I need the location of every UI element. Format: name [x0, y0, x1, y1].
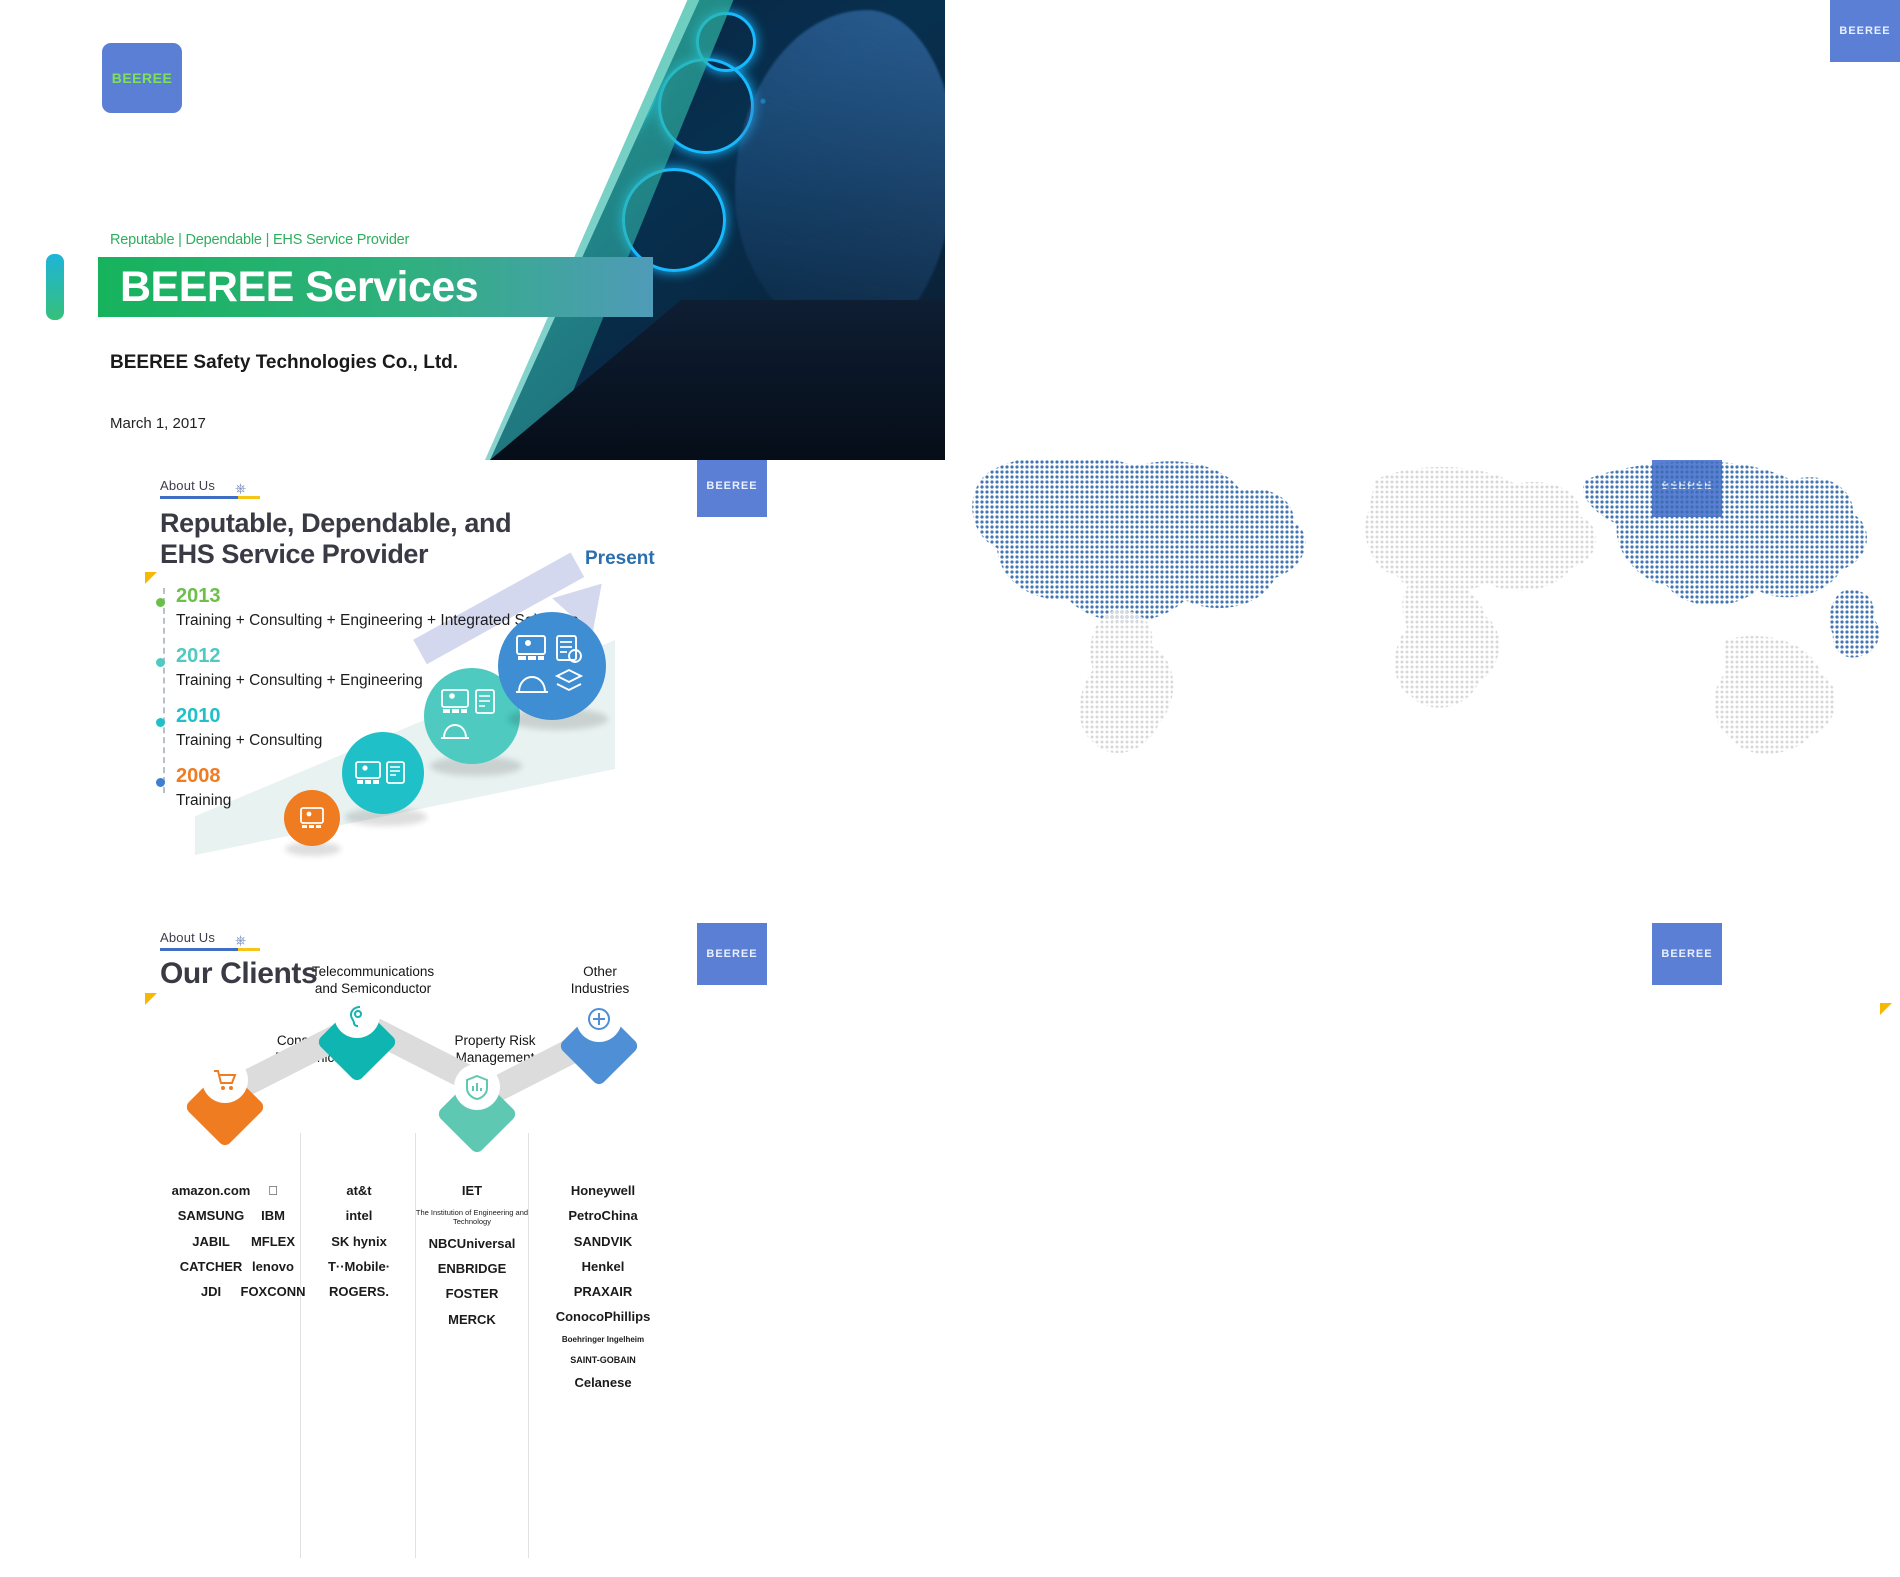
timeline-dot	[156, 778, 165, 787]
client-logo: intel	[300, 1209, 418, 1223]
timeline-dashed-line	[163, 588, 165, 793]
logo-text: BEEREE	[112, 70, 173, 86]
phone-ear-icon	[334, 992, 380, 1038]
title-accent-bar	[46, 254, 64, 320]
category-label-telecom: Telecommunications and Semiconductor	[283, 964, 463, 997]
client-logo: PRAXAIR	[528, 1285, 678, 1299]
slide-header: About Us ⎈	[160, 930, 260, 951]
shopping-cart-icon	[202, 1057, 248, 1103]
flag-marker-icon	[1880, 1003, 1892, 1015]
training-icon	[299, 807, 325, 829]
timeline-year: 2012	[176, 645, 221, 668]
client-logo-sub: The Institution of Engineering and Techn…	[413, 1209, 531, 1226]
client-column-4: Honeywell PetroChina SANDVIK Henkel PRAX…	[528, 1173, 678, 1402]
client-logo: Honeywell	[528, 1184, 678, 1198]
client-logo: FOSTER	[413, 1287, 531, 1301]
page-title: BEEREE Services	[120, 263, 478, 312]
timeline-desc: Training	[176, 792, 231, 810]
shield-icon: ⎈	[235, 932, 246, 949]
presentation-deck: BEEREE Reputable | Dependable | EHS Serv…	[0, 0, 1900, 1577]
plus-circle-icon	[576, 996, 622, 1042]
gear-inner-icon	[559, 43, 637, 121]
timeline-dot	[156, 598, 165, 607]
client-logo: Boehringer Ingelheim	[528, 1336, 678, 1345]
timeline-desc: Training + Consulting + Engineering	[176, 672, 423, 690]
corner-badge: BEEREE	[697, 460, 767, 517]
timeline-year: 2010	[176, 705, 221, 728]
milestone-bubble-2010	[342, 732, 424, 814]
client-logo: ENBRIDGE	[413, 1262, 531, 1276]
client-logo: Henkel	[528, 1260, 678, 1274]
client-column-2: at&t intel SK hynix T··Mobile· ROGERS.	[300, 1173, 418, 1310]
flag-marker-icon	[145, 993, 157, 1005]
hand-silhouette	[735, 10, 945, 340]
corner-badge: BEEREE	[1830, 0, 1900, 62]
corner-badge: BEEREE	[697, 923, 767, 985]
slide-title: BEEREE Reputable | Dependable | EHS Serv…	[0, 0, 945, 460]
training-consulting-icon	[354, 760, 412, 786]
corner-badge-text: BEEREE	[1661, 948, 1712, 960]
slide-case-process: BEEREE CASE 🗎 EHS Manual Development: Qu…	[945, 905, 1900, 1577]
timeline-dot	[156, 658, 165, 667]
timeline-dot	[156, 718, 165, 727]
presentation-date: March 1, 2017	[110, 415, 206, 432]
slide-our-clients: BEEREE About Us ⎈ Our Clients Consumer E…	[0, 905, 945, 1577]
corner-badge-text: BEEREE	[706, 480, 757, 492]
shield-icon: ⎈	[235, 480, 246, 497]
client-logo: IET	[413, 1184, 531, 1198]
client-logo: Celanese	[528, 1376, 678, 1390]
slide-outline: BEEREE BEEREE Safety Technologies Co., L…	[945, 0, 1900, 460]
milestone-bubble-2008	[284, 790, 340, 846]
slide-header: About Us ⎈	[160, 478, 260, 499]
training-consulting-engineering-icon	[440, 688, 504, 744]
corner-badge-text: BEEREE	[706, 948, 757, 960]
title-line-2: EHS Service Provider	[160, 539, 511, 570]
world-dot-map	[945, 460, 1900, 770]
client-logo: ConocoPhillips	[528, 1310, 678, 1324]
client-logo: SAINT-GOBAIN	[528, 1356, 678, 1366]
milestone-bubble-2013	[498, 612, 606, 720]
flag-marker-icon	[145, 572, 157, 584]
timeline-year: 2008	[176, 765, 221, 788]
integrated-solutions-icon	[515, 634, 589, 698]
client-logo: NBCUniversal	[413, 1237, 531, 1251]
client-logo: T··Mobile·	[300, 1260, 418, 1274]
company-name: BEEREE Safety Technologies Co., Ltd.	[110, 352, 458, 374]
slide-about-timeline: BEEREE About Us ⎈ Reputable, Dependable,…	[0, 460, 945, 905]
title-line-1: Reputable, Dependable, and	[160, 508, 511, 539]
client-logo: MERCK	[413, 1313, 531, 1327]
category-label-other: Other Industries	[540, 964, 660, 997]
client-logo: PetroChina	[528, 1209, 678, 1223]
slide-service-regions: BEEREE About Us ⎈ Servic	[945, 460, 1900, 905]
title-banner: BEEREE Services	[98, 257, 653, 317]
tagline: Reputable | Dependable | EHS Service Pro…	[110, 232, 409, 248]
logo: BEEREE	[102, 43, 182, 113]
timeline-desc: Training + Consulting	[176, 732, 322, 750]
client-logo: ROGERS.	[300, 1285, 418, 1299]
corner-badge: BEEREE	[1652, 923, 1722, 985]
client-logo: at&t	[300, 1184, 418, 1198]
shield-chart-icon	[454, 1064, 500, 1110]
client-logo: SK hynix	[300, 1235, 418, 1249]
client-logo: SANDVIK	[528, 1235, 678, 1249]
corner-badge-text: BEEREE	[1839, 25, 1890, 37]
present-label: Present	[585, 548, 655, 570]
timeline-year: 2013	[176, 585, 221, 608]
page-title: Reputable, Dependable, and EHS Service P…	[160, 508, 511, 570]
client-column-3: IET The Institution of Engineering and T…	[413, 1173, 531, 1338]
